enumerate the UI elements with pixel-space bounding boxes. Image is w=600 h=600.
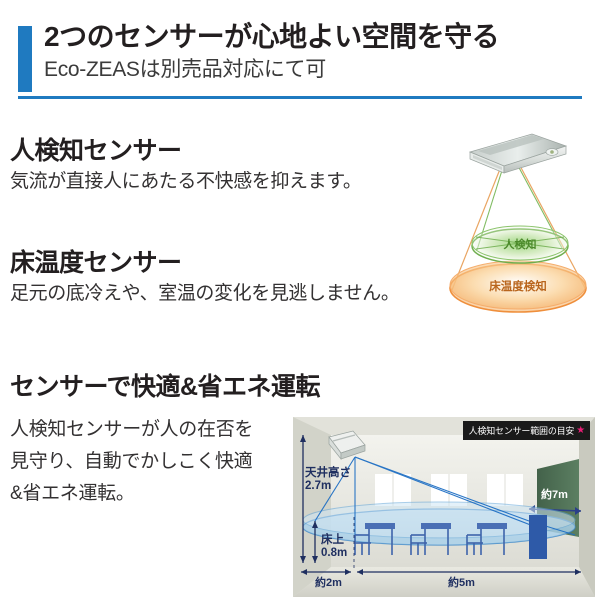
section-eco-operation-title: センサーで快適&省エネ運転 [10, 372, 320, 402]
floor-height-line-2: 0.8m [321, 547, 347, 560]
detection-range-badge: 人検知センサー範囲の目安 ★ [463, 421, 590, 440]
depth-far-label: 約5m [448, 577, 475, 590]
star-icon: ★ [576, 426, 585, 435]
section-eco-operation-body: 人検知センサーが人の在否を 見守り、自動でかしこく快適 &省エネ運転。 [10, 414, 320, 510]
page-title: 2つのセンサーが心地よい空間を守る [44, 20, 499, 54]
floor-height-label: 床上 0.8m [321, 534, 347, 560]
room-right-wall [579, 417, 595, 597]
header-accent-bar [18, 26, 32, 92]
eco-body-line-1: 人検知センサーが人の在否を [10, 414, 320, 446]
header: 2つのセンサーが心地よい空間を守る Eco-ZEASは別売品対応にて可 [0, 0, 600, 104]
header-divider [18, 96, 582, 99]
ceiling-height-label: 天井高さ 2.7m [305, 467, 351, 493]
sensor-cone-svg: 人検知 床温度検知 [440, 128, 600, 333]
detection-range-badge-label: 人検知センサー範囲の目安 [469, 424, 575, 437]
ceiling-height-line-1: 天井高さ [305, 467, 351, 480]
room-windows [375, 474, 523, 506]
room-diagram-svg [293, 417, 595, 597]
section-floor-temp-sensor: 床温度センサー 足元の底冷えや、室温の変化を見逃しません。 [10, 248, 399, 307]
room-width-label: 約7m [541, 489, 568, 502]
section-floor-temp-sensor-body: 足元の底冷えや、室温の変化を見逃しません。 [10, 281, 399, 307]
eco-body-line-2: 見守り、自動でかしこく快適 [10, 446, 320, 478]
section-floor-temp-sensor-title: 床温度センサー [10, 248, 399, 278]
depth-near-label: 約2m [315, 577, 342, 590]
section-eco-operation: センサーで快適&省エネ運転 人検知センサーが人の在否を 見守り、自動でかしこく快… [10, 372, 320, 510]
eco-body-line-3: &省エネ運転。 [10, 478, 320, 510]
human-detect-label: 人検知 [504, 237, 537, 251]
room-diagram-panel: 人検知センサー範囲の目安 ★ 天井高さ 2.7m 床上 0.8m 約2m 約5m… [293, 417, 595, 597]
ceiling-air-conditioner-icon [470, 134, 566, 173]
section-human-sensor-body: 気流が直接人にあたる不快感を抑えます。 [10, 169, 362, 195]
floor-height-line-1: 床上 [321, 534, 347, 547]
section-human-sensor: 人検知センサー 気流が直接人にあたる不快感を抑えます。 [10, 136, 362, 195]
sensor-cone-illustration: 人検知 床温度検知 [440, 128, 600, 333]
page-subtitle: Eco-ZEASは別売品対応にて可 [44, 56, 499, 84]
ceiling-height-line-2: 2.7m [305, 480, 351, 493]
room-person-figure [529, 515, 547, 559]
header-text-group: 2つのセンサーが心地よい空間を守る Eco-ZEASは別売品対応にて可 [44, 20, 499, 84]
section-human-sensor-title: 人検知センサー [10, 136, 362, 166]
floor-detect-label: 床温度検知 [489, 279, 547, 293]
room-left-wall [293, 417, 331, 597]
